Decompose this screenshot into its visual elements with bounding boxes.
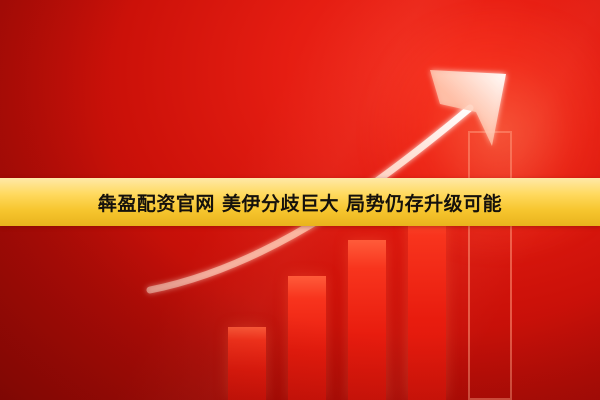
bar-3 (348, 240, 386, 400)
bar-1 (228, 327, 266, 400)
headline-banner: 犇盈配资官网 美伊分歧巨大 局势仍存升级可能 (0, 178, 600, 226)
bar-4 (408, 200, 446, 400)
promo-image: 犇盈配资官网 美伊分歧巨大 局势仍存升级可能 (0, 0, 600, 400)
headline-text: 犇盈配资官网 美伊分歧巨大 局势仍存升级可能 (98, 189, 502, 216)
bar-2 (288, 276, 326, 400)
bar-5 (468, 131, 512, 400)
